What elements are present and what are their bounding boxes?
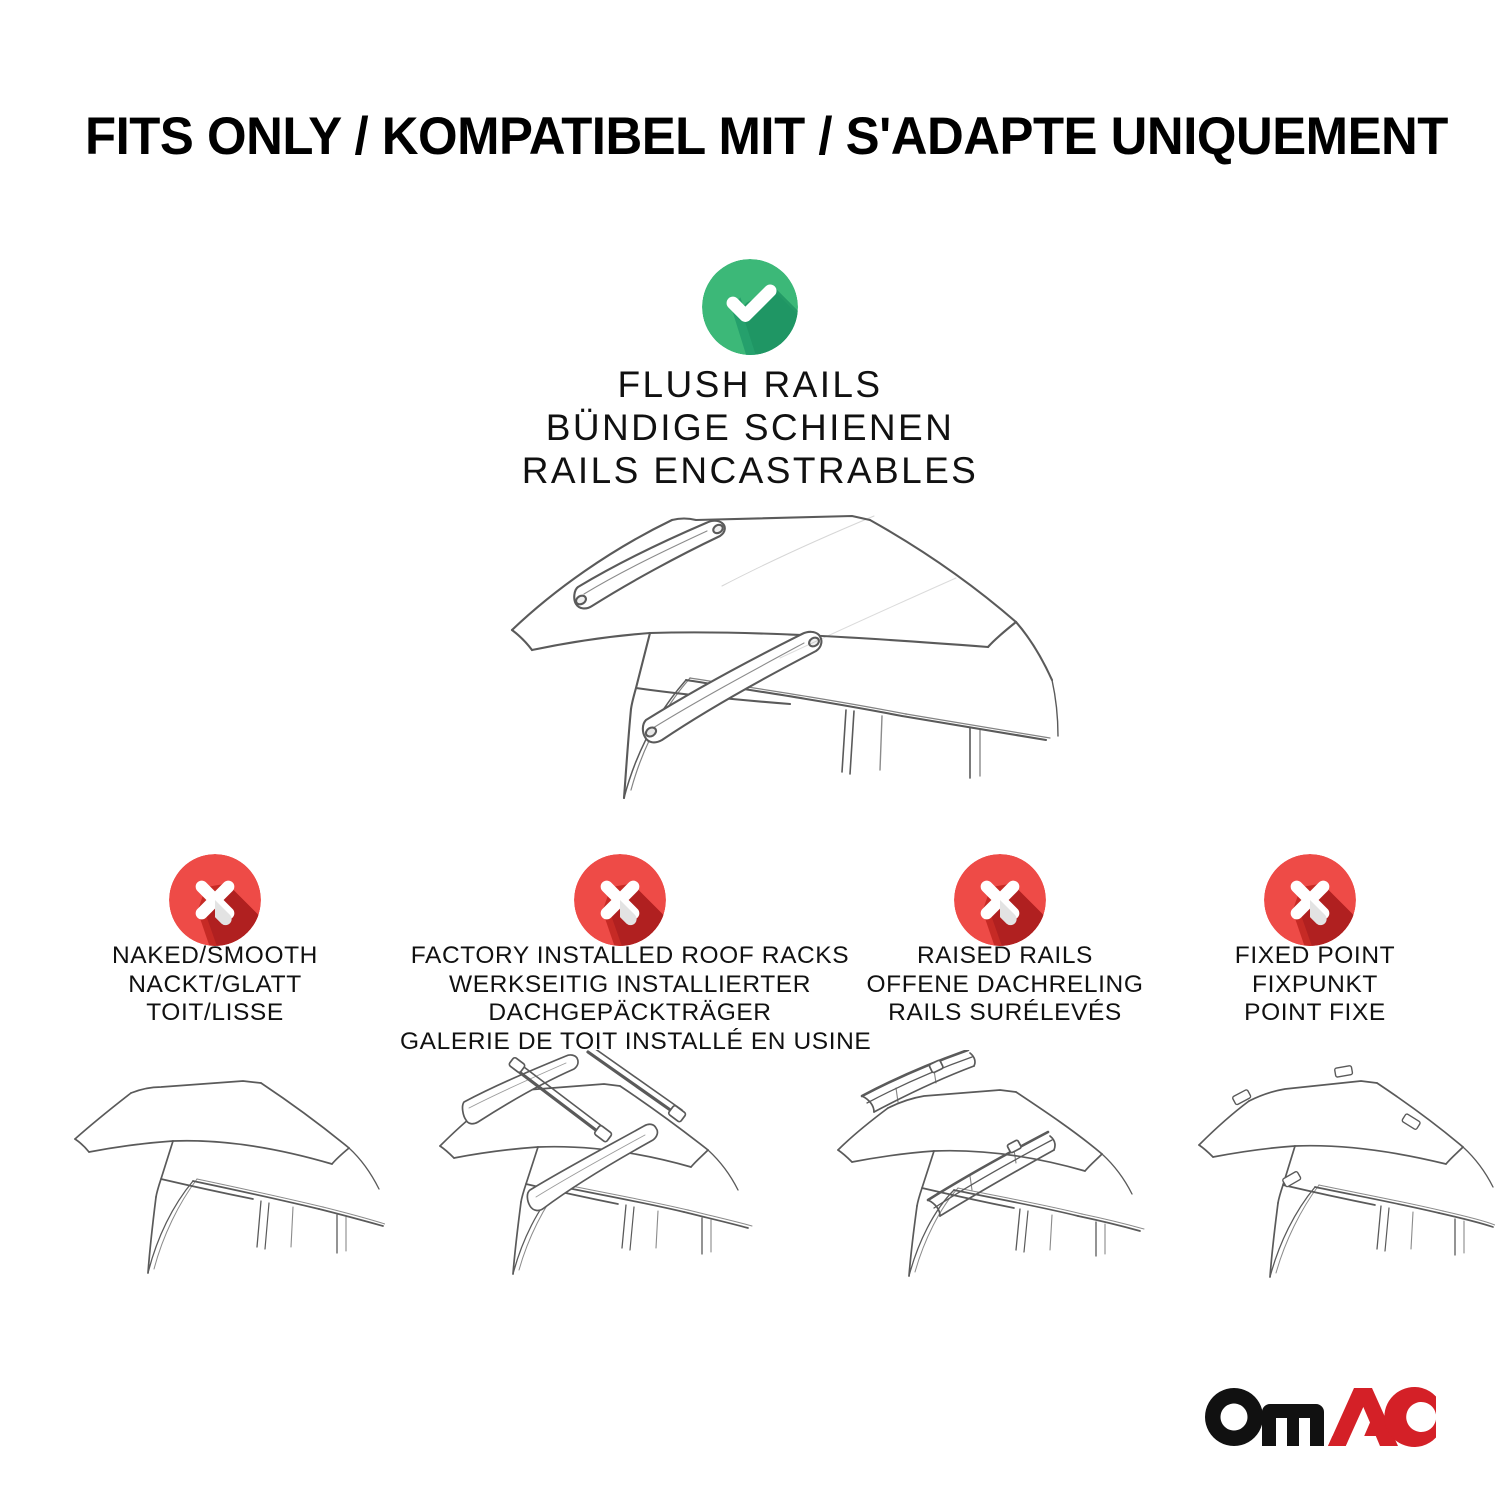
red-cross-circle-icon: [574, 854, 666, 946]
page-title: FITS ONLY / KOMPATIBEL MIT / S'ADAPTE UN…: [85, 106, 1371, 168]
red-cross-circle-icon: [169, 854, 261, 946]
label-line-de-2: DACHGEPÄCKTRÄGER: [400, 999, 860, 1028]
label-line-en: FIXED POINT: [1140, 942, 1490, 971]
label-line-fr: POINT FIXE: [1140, 999, 1490, 1028]
incompatible-label-naked-smooth: NAKED/SMOOTH NACKT/GLATT TOIT/LISSE: [35, 942, 395, 1028]
label-line-fr: TOIT/LISSE: [35, 999, 395, 1028]
omac-logo: [1204, 1386, 1436, 1448]
red-cross-circle-icon: [954, 854, 1046, 946]
incompatible-label-factory-racks: FACTORY INSTALLED ROOF RACKS WERKSEITIG …: [400, 942, 860, 1056]
label-line-de: FIXPUNKT: [1140, 971, 1490, 1000]
compatible-label-line-de: BÜNDIGE SCHIENEN: [250, 406, 1250, 449]
label-line-en: NAKED/SMOOTH: [35, 942, 395, 971]
red-cross-circle-icon: [1264, 854, 1356, 946]
label-line-de-1: WERKSEITIG INSTALLIERTER: [400, 971, 860, 1000]
compatible-label-line-fr: RAILS ENCASTRABLES: [250, 449, 1250, 492]
car-roof-with-raised-rails-illustration: [810, 1050, 1150, 1280]
compatibility-infographic: FITS ONLY / KOMPATIBEL MIT / S'ADAPTE UN…: [0, 0, 1500, 1500]
label-line-de: NACKT/GLATT: [35, 971, 395, 1000]
incompatible-label-fixed-point: FIXED POINT FIXPUNKT POINT FIXE: [1140, 942, 1490, 1028]
compatible-label-line-en: FLUSH RAILS: [250, 363, 1250, 406]
label-line-en: RAISED RAILS: [830, 942, 1180, 971]
car-roof-fixed-point-illustration: [1175, 1055, 1495, 1280]
label-line-en: FACTORY INSTALLED ROOF RACKS: [400, 942, 860, 971]
incompatible-label-raised-rails: RAISED RAILS OFFENE DACHRELING RAILS SUR…: [830, 942, 1180, 1028]
green-check-circle-icon: [702, 259, 798, 355]
car-roof-with-flush-rails-illustration: [450, 490, 1070, 800]
car-roof-bare-illustration: [55, 1055, 385, 1280]
label-line-de: OFFENE DACHRELING: [830, 971, 1180, 1000]
compatible-label: FLUSH RAILS BÜNDIGE SCHIENEN RAILS ENCAS…: [250, 363, 1250, 492]
label-line-fr: RAILS SURÉLEVÉS: [830, 999, 1180, 1028]
car-roof-with-factory-crossbars-illustration: [418, 1050, 758, 1280]
